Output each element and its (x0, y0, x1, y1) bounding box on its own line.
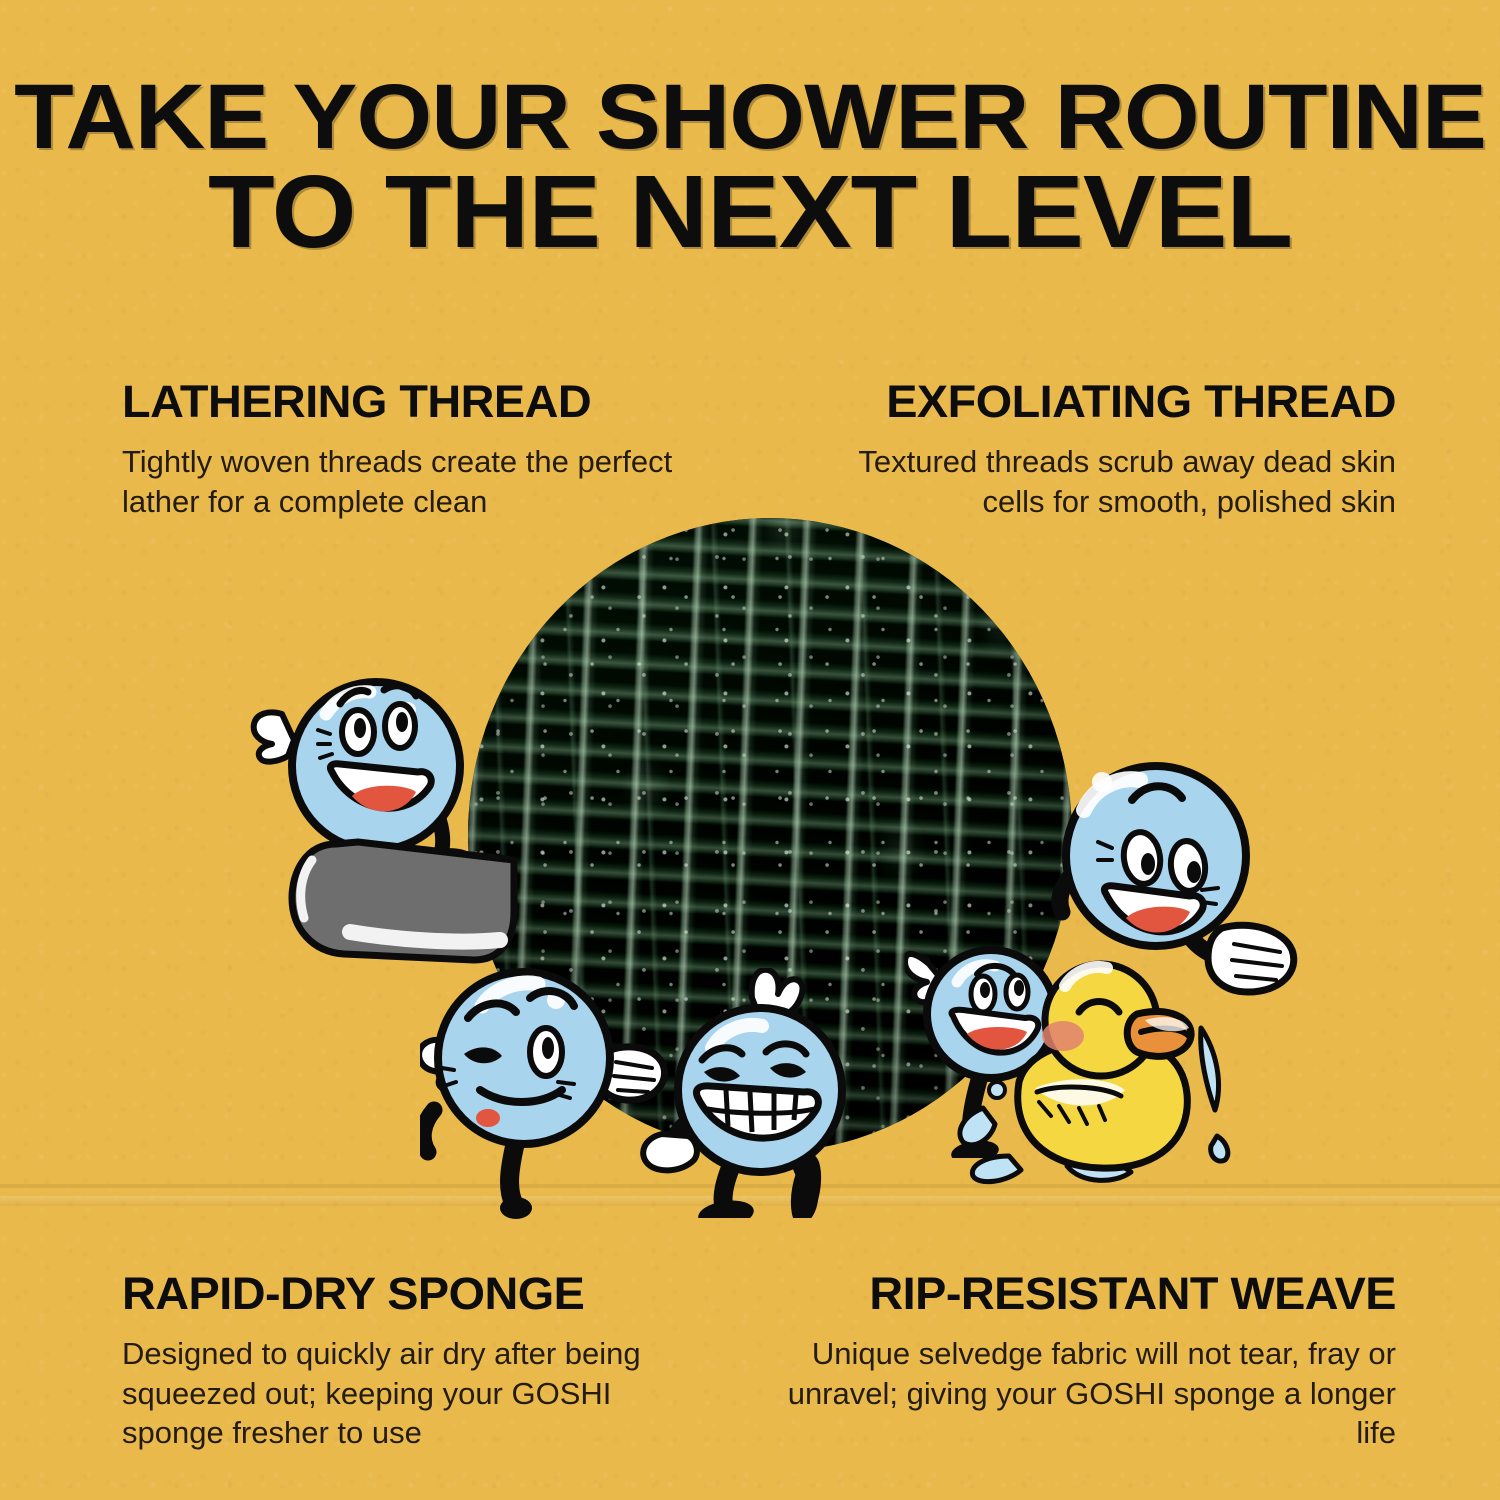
sponge-prop (288, 820, 518, 970)
page-title: TAKE YOUR SHOWER ROUTINE TO THE NEXT LEV… (0, 72, 1500, 263)
bubble-character-dizzy (420, 958, 670, 1220)
bubble-character-grimace (640, 968, 890, 1218)
bubble-body (438, 972, 610, 1144)
feature-body-rapid-dry-sponge: Designed to quickly air dry after being … (122, 1334, 682, 1453)
feature-title-exfoliating-thread: EXFOLIATING THREAD (772, 376, 1396, 428)
feature-lathering-thread: LATHERING THREAD Tightly woven threads c… (122, 376, 682, 521)
product-infographic-poster: TAKE YOUR SHOWER ROUTINE TO THE NEXT LEV… (0, 0, 1500, 1500)
blush-tongue (476, 1109, 500, 1127)
duck-blush (1042, 1021, 1084, 1051)
rubber-duck (955, 960, 1255, 1210)
feature-body-exfoliating-thread: Textured threads scrub away dead skin ce… (796, 442, 1396, 521)
eye-right (1168, 839, 1207, 892)
feature-title-lathering-thread: LATHERING THREAD (122, 376, 704, 428)
headline-line-2: TO THE NEXT LEVEL (0, 162, 1500, 263)
feature-title-rip-resistant-weave: RIP-RESISTANT WEAVE (751, 1268, 1396, 1320)
feature-exfoliating-thread: EXFOLIATING THREAD Textured threads scru… (796, 376, 1396, 521)
feature-title-rapid-dry-sponge: RAPID-DRY SPONGE (122, 1268, 704, 1320)
feature-body-rip-resistant-weave: Unique selvedge fabric will not tear, fr… (776, 1334, 1396, 1453)
feature-rip-resistant-weave: RIP-RESISTANT WEAVE Unique selvedge fabr… (776, 1268, 1396, 1453)
feature-body-lathering-thread: Tightly woven threads create the perfect… (122, 442, 682, 521)
headline-line-1: TAKE YOUR SHOWER ROUTINE (0, 72, 1500, 162)
feature-rapid-dry-sponge: RAPID-DRY SPONGE Designed to quickly air… (122, 1268, 682, 1453)
